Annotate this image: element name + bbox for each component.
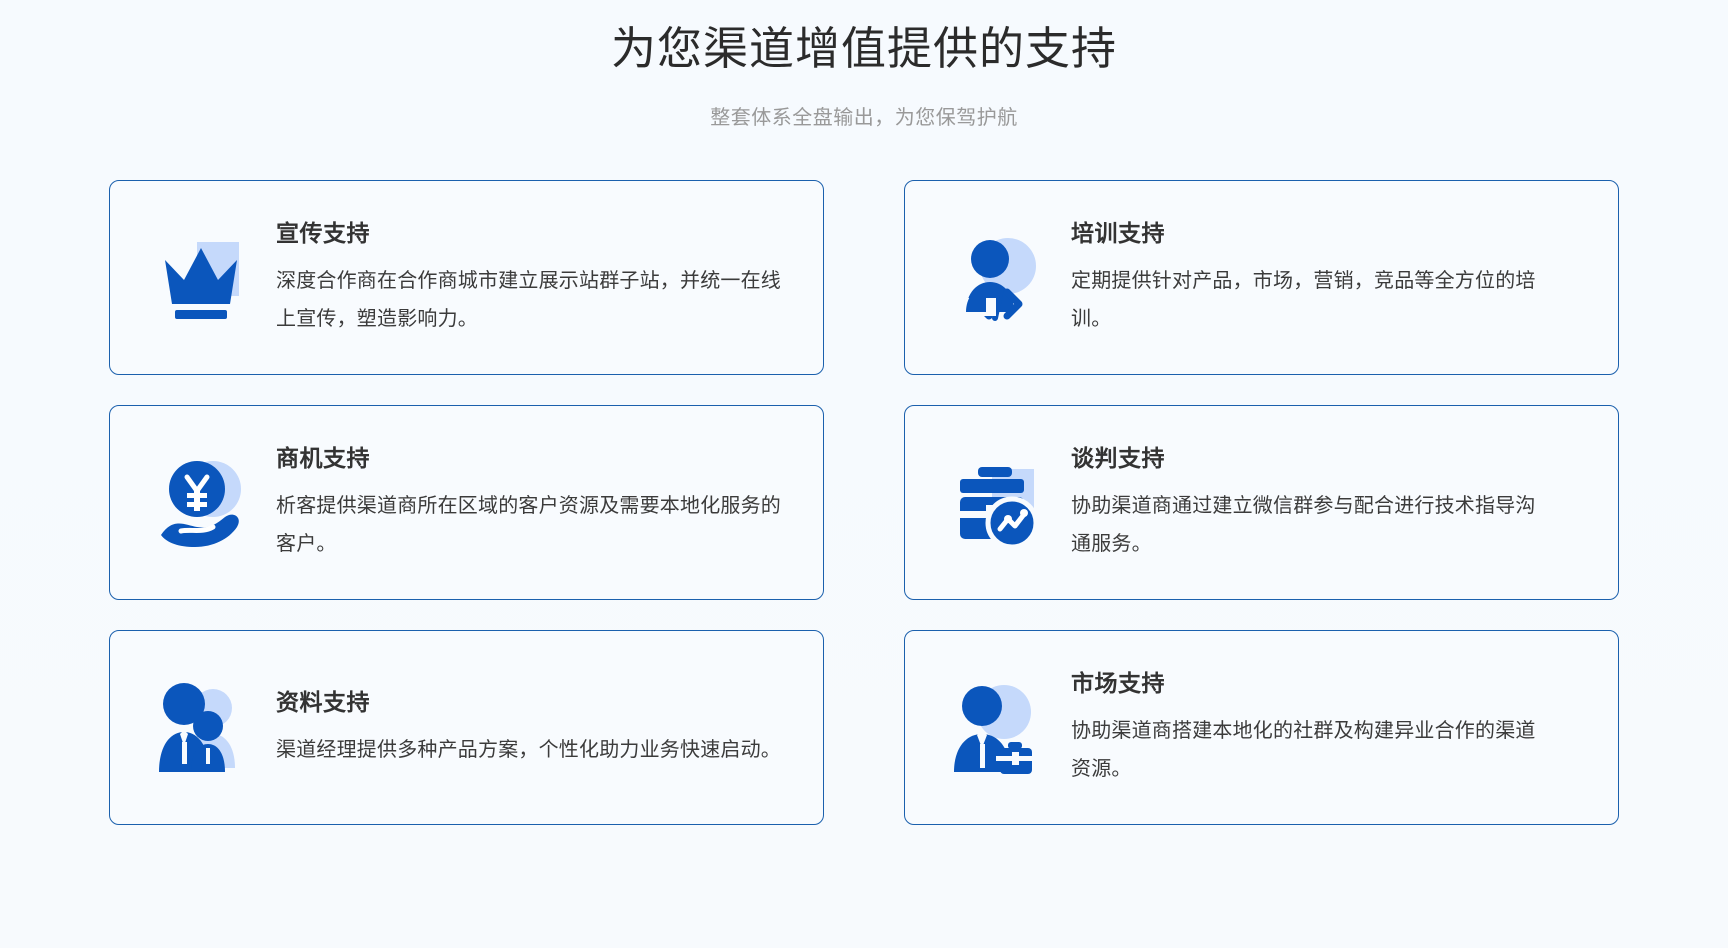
businessman-briefcase-icon <box>939 669 1057 787</box>
card-title: 谈判支持 <box>1071 443 1588 473</box>
card-title: 市场支持 <box>1071 668 1588 698</box>
support-card-material[interactable]: 资料支持 渠道经理提供多种产品方案，个性化助力业务快速启动。 <box>109 630 824 825</box>
card-description: 协助渠道商通过建立微信群参与配合进行技术指导沟通服务。 <box>1071 487 1541 563</box>
card-body: 谈判支持 协助渠道商通过建立微信群参与配合进行技术指导沟通服务。 <box>1057 443 1592 563</box>
card-description: 析客提供渠道商所在区域的客户资源及需要本地化服务的客户。 <box>276 487 791 563</box>
card-body: 市场支持 协助渠道商搭建本地化的社群及构建异业合作的渠道资源。 <box>1057 668 1592 788</box>
page-subtitle: 整套体系全盘输出，为您保驾护航 <box>0 104 1728 132</box>
card-body: 商机支持 析客提供渠道商所在区域的客户资源及需要本地化服务的客户。 <box>262 443 797 563</box>
two-people-icon <box>144 669 262 787</box>
card-description: 深度合作商在合作商城市建立展示站群子站，并统一在线上宣传，塑造影响力。 <box>276 262 793 338</box>
card-title: 宣传支持 <box>276 218 793 248</box>
card-title: 资料支持 <box>276 687 793 717</box>
briefcase-chart-icon <box>939 444 1057 562</box>
card-description: 协助渠道商搭建本地化的社群及构建异业合作的渠道资源。 <box>1071 712 1541 788</box>
support-card-negotiation[interactable]: 谈判支持 协助渠道商通过建立微信群参与配合进行技术指导沟通服务。 <box>904 405 1619 600</box>
card-title: 培训支持 <box>1071 218 1588 248</box>
support-card-training[interactable]: 培训支持 定期提供针对产品，市场，营销，竞品等全方位的培训。 <box>904 180 1619 375</box>
support-card-market[interactable]: 市场支持 协助渠道商搭建本地化的社群及构建异业合作的渠道资源。 <box>904 630 1619 825</box>
support-cards-grid: 宣传支持 深度合作商在合作商城市建立展示站群子站，并统一在线上宣传，塑造影响力。 <box>109 180 1619 825</box>
support-section: 为您渠道增值提供的支持 整套体系全盘输出，为您保驾护航 宣传支持 深度合作商在合… <box>0 0 1728 948</box>
card-body: 宣传支持 深度合作商在合作商城市建立展示站群子站，并统一在线上宣传，塑造影响力。 <box>262 218 797 338</box>
section-header: 为您渠道增值提供的支持 整套体系全盘输出，为您保驾护航 <box>0 0 1728 132</box>
support-card-publicity[interactable]: 宣传支持 深度合作商在合作商城市建立展示站群子站，并统一在线上宣传，塑造影响力。 <box>109 180 824 375</box>
card-title: 商机支持 <box>276 443 793 473</box>
crown-icon <box>144 219 262 337</box>
hand-holding-yen-icon <box>144 444 262 562</box>
page-title: 为您渠道增值提供的支持 <box>0 18 1728 80</box>
card-body: 资料支持 渠道经理提供多种产品方案，个性化助力业务快速启动。 <box>262 687 797 769</box>
support-card-business-opportunity[interactable]: 商机支持 析客提供渠道商所在区域的客户资源及需要本地化服务的客户。 <box>109 405 824 600</box>
card-description: 定期提供针对产品，市场，营销，竞品等全方位的培训。 <box>1071 262 1541 338</box>
card-body: 培训支持 定期提供针对产品，市场，营销，竞品等全方位的培训。 <box>1057 218 1592 338</box>
card-description: 渠道经理提供多种产品方案，个性化助力业务快速启动。 <box>276 731 793 769</box>
developer-person-icon <box>939 219 1057 337</box>
